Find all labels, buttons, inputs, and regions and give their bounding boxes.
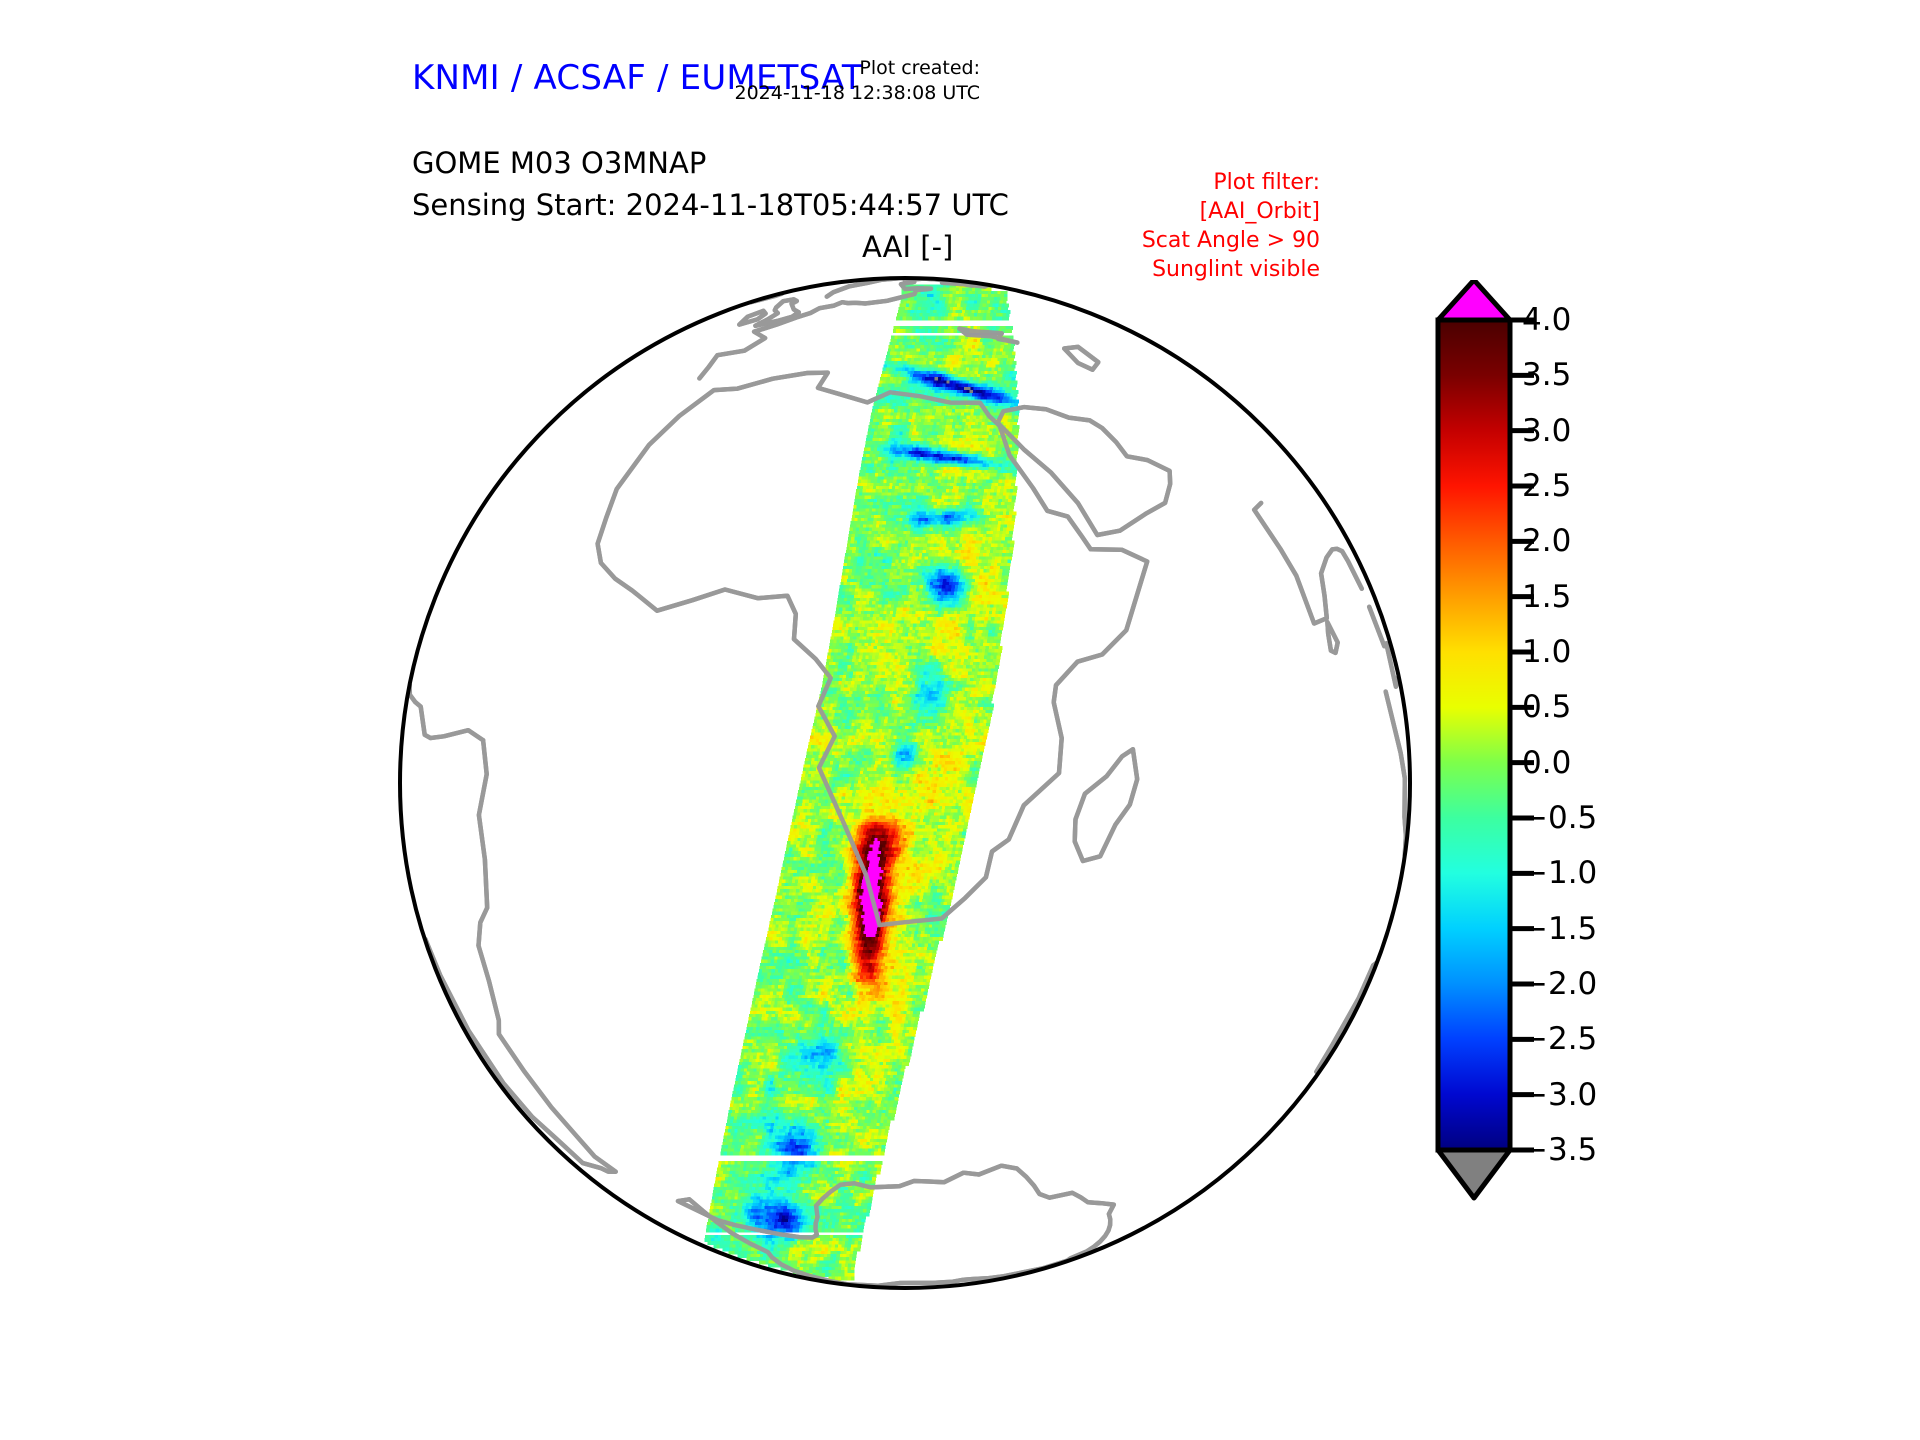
globe-svg <box>390 268 1420 1298</box>
colorbar-tick-label: −0.5 <box>1522 800 1597 836</box>
colorbar: 4.03.53.02.52.01.51.00.50.0−0.5−1.0−1.5−… <box>1430 280 1730 1300</box>
colorbar-tick-label: −2.0 <box>1522 966 1597 1002</box>
colorbar-tick-label: 1.5 <box>1522 579 1571 615</box>
page-title: AAI [-] <box>862 230 953 264</box>
colorbar-tick-label: −1.0 <box>1522 855 1597 891</box>
plot-filter-line-1: [AAI_Orbit] <box>980 197 1320 226</box>
globe-map <box>390 268 1420 1298</box>
colorbar-tick-label: −3.5 <box>1522 1132 1597 1168</box>
colorbar-tick-label: 1.0 <box>1522 634 1571 670</box>
colorbar-under-arrow <box>1438 1150 1510 1198</box>
colorbar-tick-label: 2.5 <box>1522 468 1571 504</box>
colorbar-tick-label: −1.5 <box>1522 911 1597 947</box>
colorbar-tick-label: 3.5 <box>1522 357 1571 393</box>
instrument-line: GOME M03 O3MNAP <box>412 142 1009 184</box>
plot-page: KNMI / ACSAF / EUMETSAT Plot created: 20… <box>0 0 1920 1440</box>
colorbar-tick-label: 0.5 <box>1522 689 1571 725</box>
plot-filter-line-0: Plot filter: <box>980 168 1320 197</box>
plot-created-timestamp: 2024-11-18 12:38:08 UTC <box>660 81 980 106</box>
plot-filter-block: Plot filter: [AAI_Orbit] Scat Angle > 90… <box>980 168 1320 284</box>
colorbar-tick-label: 2.0 <box>1522 523 1571 559</box>
colorbar-tick-label: 0.0 <box>1522 745 1571 781</box>
colorbar-tick-label: −2.5 <box>1522 1021 1597 1057</box>
colorbar-tick-label: −3.0 <box>1522 1077 1597 1113</box>
colorbar-gradient-bar <box>1438 320 1510 1150</box>
plot-filter-line-2: Scat Angle > 90 <box>980 226 1320 255</box>
sensing-start-line: Sensing Start: 2024-11-18T05:44:57 UTC <box>412 184 1009 226</box>
plot-created-label: Plot created: <box>660 56 980 81</box>
instrument-block: GOME M03 O3MNAP Sensing Start: 2024-11-1… <box>412 142 1009 226</box>
colorbar-over-arrow <box>1438 280 1510 320</box>
colorbar-tick-label: 3.0 <box>1522 413 1571 449</box>
colorbar-tick-label: 4.0 <box>1522 302 1571 338</box>
plot-created-block: Plot created: 2024-11-18 12:38:08 UTC <box>660 56 980 106</box>
